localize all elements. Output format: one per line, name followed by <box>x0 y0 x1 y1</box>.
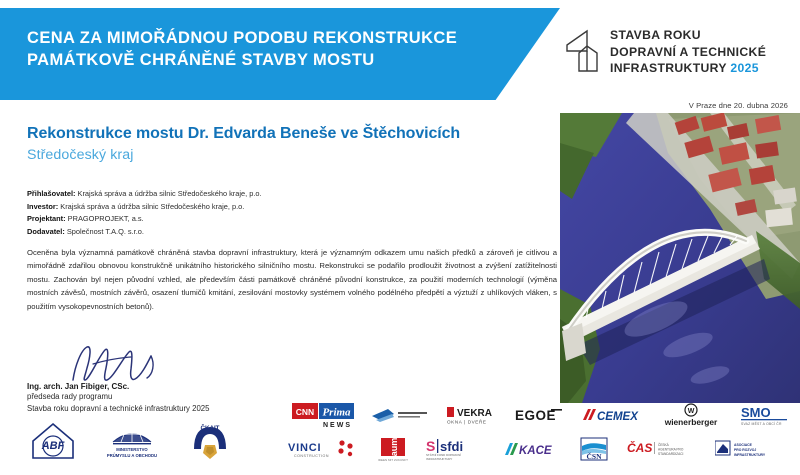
svg-text:ČESKÁ: ČESKÁ <box>658 442 670 447</box>
svg-text:ASOCIACE: ASOCIACE <box>734 443 753 447</box>
ministerstvo-prumyslu-a-obchodu-logo: MINISTERSTVO PRŮMYSLU A OBCHODU <box>99 428 165 454</box>
svg-text:VINCI: VINCI <box>288 442 321 454</box>
svg-text:sfdi: sfdi <box>440 439 463 454</box>
sfdi-logo: S sfdi STÁTNÍ FOND DOPRAVNÍ INFRASTRUKTU… <box>426 436 486 462</box>
cnn-prima-news-logo: CNN Prima NEWS <box>292 402 354 428</box>
ministerstvo-prumyslu-a-obchodu-logo-icon: MINISTERSTVO PRŮMYSLU A OBCHODU <box>99 422 165 460</box>
party-row: Přihlašovatel: Krajská správa a údržba s… <box>27 188 262 201</box>
svg-text:SMO: SMO <box>741 405 771 420</box>
vinci-construction-logo-icon: VINCI CONSTRUCTION <box>288 438 360 460</box>
partner-logos-row-2: VINCI CONSTRUCTION baumit IDEEN MIT ZUKU… <box>288 436 793 462</box>
svg-text:PRŮMYSLU A OBCHODU: PRŮMYSLU A OBCHODU <box>107 453 157 458</box>
svg-text:CEMEX: CEMEX <box>597 411 639 423</box>
party-value: PRAGOPROJEKT, a.s. <box>68 214 144 223</box>
asociace-pro-rozvoj-infrastruktury-logo: ASOCIACE PRO ROZVOJ INFRASTRUKTURY <box>715 436 793 462</box>
kace-logo: KACE <box>503 436 561 462</box>
reklamni-agentura-logo <box>372 402 428 428</box>
banner-line-2: PAMÁTKOVĚ CHRÁNĚNÉ STAVBY MOSTU <box>27 50 497 72</box>
vekra-logo: VEKRA OKNA | DVEŘE <box>447 402 497 428</box>
csn-logo: ČSN <box>579 436 609 462</box>
cemex-logo-icon: CEMEX <box>581 407 641 423</box>
party-value: Krajská správa a údržba silnic Středočes… <box>60 202 244 211</box>
egoe-logo: EGOE <box>515 402 563 428</box>
svg-text:INFRASTRUKTURY: INFRASTRUKTURY <box>734 453 766 457</box>
project-region: Středočeský kraj <box>27 147 460 163</box>
award-logo: STAVBA ROKU DOPRAVNÍ A TECHNICKÉ INFRAST… <box>565 27 766 77</box>
reklamni-agentura-logo-icon <box>372 407 428 423</box>
svg-text:KACE: KACE <box>519 445 552 457</box>
cas-logo: ČAS ČESKÁ AGENTURA PRO STANDARDIZACI <box>627 436 697 462</box>
svg-text:ČKAIT: ČKAIT <box>201 425 220 432</box>
vekra-logo-icon: VEKRA OKNA | DVEŘE <box>447 405 497 425</box>
aerial-photo-bridge-stechovice <box>560 113 800 403</box>
signatory-role: předseda rady programu <box>27 391 209 403</box>
party-label: Investor: <box>27 202 58 211</box>
cas-logo-icon: ČAS ČESKÁ AGENTURA PRO STANDARDIZACI <box>627 439 697 459</box>
ckait-logo: ČKAIT <box>188 428 232 454</box>
award-line-2: DOPRAVNÍ A TECHNICKÉ <box>610 44 766 61</box>
party-value: Krajská správa a údržba silnic Středočes… <box>78 189 262 198</box>
svg-text:SVAZ MĚST A OBCÍ ČR: SVAZ MĚST A OBCÍ ČR <box>741 421 782 426</box>
svg-text:ČSN: ČSN <box>587 451 603 461</box>
award-description: Oceněna byla významná památkově chráněná… <box>27 246 557 313</box>
svg-text:OKNA | DVEŘE: OKNA | DVEŘE <box>447 418 487 425</box>
smo-logo: SMO SVAZ MĚST A OBCÍ ČR <box>740 402 792 428</box>
abf-logo-icon: ABF <box>30 421 76 461</box>
smo-logo-icon: SMO SVAZ MĚST A OBCÍ ČR <box>740 404 792 426</box>
stavba-roku-mark-icon <box>565 29 601 73</box>
svg-text:ČAS: ČAS <box>627 440 652 455</box>
svg-text:EGOE: EGOE <box>515 408 556 423</box>
svg-text:STANDARDIZACI: STANDARDIZACI <box>658 452 684 456</box>
award-year: 2025 <box>730 61 759 75</box>
party-row: Investor: Krajská správa a údržba silnic… <box>27 201 262 214</box>
project-title-block: Rekonstrukce mostu Dr. Edvarda Beneše ve… <box>27 124 460 163</box>
svg-text:CNN: CNN <box>296 407 314 417</box>
cnn-prima-news-logo-icon: CNN Prima NEWS <box>292 403 354 428</box>
handwritten-signature-icon <box>59 342 179 384</box>
award-logo-text: STAVBA ROKU DOPRAVNÍ A TECHNICKÉ INFRAST… <box>610 27 766 77</box>
svg-text:AGENTURA PRO: AGENTURA PRO <box>658 448 684 452</box>
organizer-logos: ABF MINISTERSTVO PRŮMYSLU A OBCHODU <box>18 428 244 454</box>
baumit-logo-icon: baumit IDEEN MIT ZUKUNFT <box>378 436 408 462</box>
kace-logo-icon: KACE <box>503 440 561 458</box>
partner-logos-row-1: CNN Prima NEWS VEKRA OKNA | DVEŘE <box>292 402 792 428</box>
party-row: Dodavatel: Společnost T.A.Q. s.r.o. <box>27 226 262 239</box>
place-and-date: V Praze dne 20. dubna 2026 <box>689 101 788 110</box>
signatory-program: Stavba roku dopravní a technické infrast… <box>27 403 209 415</box>
egoe-logo-icon: EGOE <box>515 406 563 424</box>
party-label: Přihlašovatel: <box>27 189 75 198</box>
svg-text:NEWS: NEWS <box>323 422 352 428</box>
banner-line-1: CENA ZA MIMOŘÁDNOU PODOBU REKONSTRUKCE <box>27 28 497 50</box>
svg-text:MINISTERSTVO: MINISTERSTVO <box>116 447 148 452</box>
signatory-name: Ing. arch. Jan Fibiger, CSc. <box>27 382 209 391</box>
cemex-logo: CEMEX <box>581 402 641 428</box>
wienerberger-logo-icon: W wienerberger <box>660 403 722 428</box>
svg-text:wienerberger: wienerberger <box>663 417 717 427</box>
svg-text:VEKRA: VEKRA <box>457 408 492 419</box>
award-line-3: INFRASTRUKTURY 2025 <box>610 60 766 77</box>
signature-block: Ing. arch. Jan Fibiger, CSc. předseda ra… <box>27 342 209 414</box>
svg-text:Prima: Prima <box>322 406 351 418</box>
parties-list: Přihlašovatel: Krajská správa a údržba s… <box>27 188 262 239</box>
svg-text:INFRASTRUKTURY: INFRASTRUKTURY <box>426 457 452 461</box>
ckait-logo-icon: ČKAIT <box>188 421 232 461</box>
sfdi-logo-icon: S sfdi STÁTNÍ FOND DOPRAVNÍ INFRASTRUKTU… <box>426 437 486 461</box>
asociace-pro-rozvoj-infrastruktury-logo-icon: ASOCIACE PRO ROZVOJ INFRASTRUKTURY <box>715 439 793 459</box>
certificate-page: CENA ZA MIMOŘÁDNOU PODOBU REKONSTRUKCE P… <box>0 0 800 475</box>
award-line-1: STAVBA ROKU <box>610 27 766 44</box>
csn-logo-icon: ČSN <box>579 436 609 462</box>
svg-text:ABF: ABF <box>40 440 64 452</box>
svg-text:W: W <box>687 408 694 415</box>
party-label: Projektant: <box>27 214 66 223</box>
photo-illustration <box>560 113 800 403</box>
svg-text:IDEEN MIT ZUKUNFT: IDEEN MIT ZUKUNFT <box>378 458 408 462</box>
wienerberger-logo: W wienerberger <box>660 402 722 428</box>
party-row: Projektant: PRAGOPROJEKT, a.s. <box>27 213 262 226</box>
party-label: Dodavatel: <box>27 227 65 236</box>
abf-logo: ABF <box>30 428 76 454</box>
vinci-construction-logo: VINCI CONSTRUCTION <box>288 436 360 462</box>
svg-text:S: S <box>426 438 435 454</box>
svg-text:CONSTRUCTION: CONSTRUCTION <box>294 454 329 458</box>
baumit-logo: baumit IDEEN MIT ZUKUNFT <box>378 436 408 462</box>
page-title: Rekonstrukce mostu Dr. Edvarda Beneše ve… <box>27 124 460 143</box>
party-value: Společnost T.A.Q. s.r.o. <box>67 227 144 236</box>
svg-text:PRO ROZVOJ: PRO ROZVOJ <box>734 448 756 452</box>
header-banner-text: CENA ZA MIMOŘÁDNOU PODOBU REKONSTRUKCE P… <box>27 28 497 72</box>
